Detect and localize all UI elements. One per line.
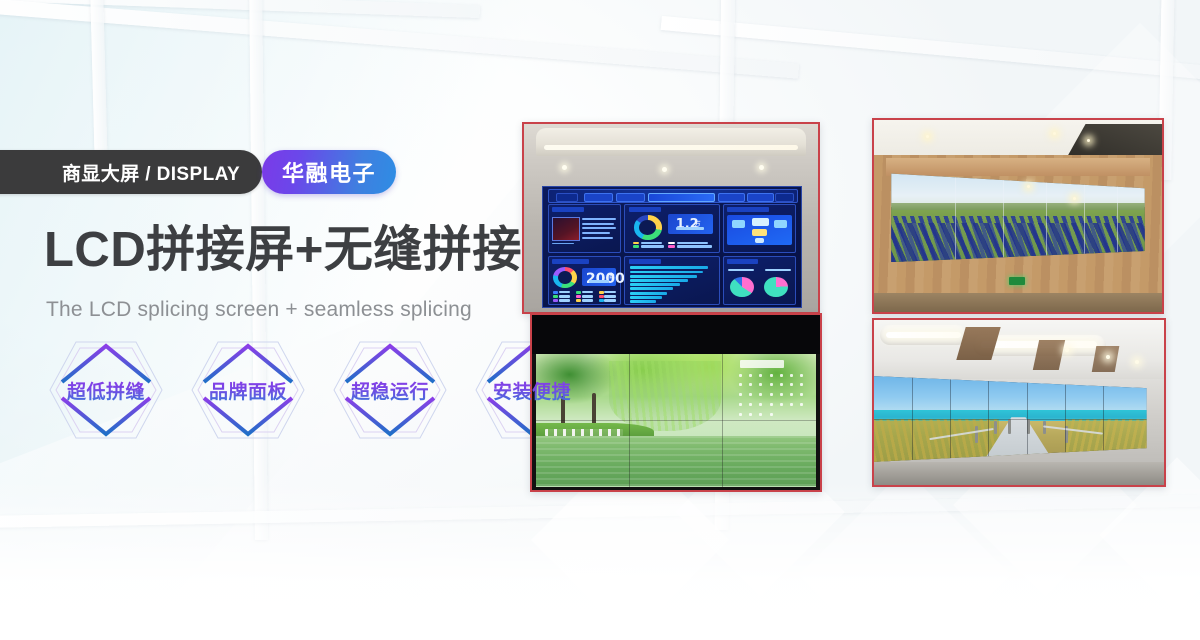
feature-item-2: 品牌面板 xyxy=(188,336,308,444)
product-photo-dashboard-video-wall: 1.2 万 xyxy=(522,122,820,314)
feature-label: 品牌面板 xyxy=(209,377,287,404)
page-title: LCD拼接屏+无缝拼接 xyxy=(44,226,522,275)
copy-column: 商显大屏 / DISPLAY 华融电子 LCD拼接屏+无缝拼接 The LCD … xyxy=(0,0,530,640)
category-pill-label: 商显大屏 / DISPLAY xyxy=(62,159,240,186)
product-photo-willow-lake-wall xyxy=(530,313,822,492)
photo-scene xyxy=(874,120,1162,312)
product-photo-solar-farm-wide-wall xyxy=(872,118,1164,314)
feature-label: 超稳运行 xyxy=(351,377,429,404)
feature-item-3: 超稳运行 xyxy=(330,336,450,444)
banner-root: 商显大屏 / DISPLAY 华融电子 LCD拼接屏+无缝拼接 The LCD … xyxy=(0,0,1200,640)
photo-scene: 1.2 万 xyxy=(524,124,818,312)
feature-label: 超低拼缝 xyxy=(67,377,145,404)
brand-badge-row: 商显大屏 / DISPLAY 华融电子 xyxy=(46,150,396,194)
brand-pill-label: 华融电子 xyxy=(282,156,376,188)
photo-scene xyxy=(532,315,820,490)
product-photo-beach-boardwalk-wall xyxy=(872,318,1166,487)
feature-label: 安装便捷 xyxy=(493,377,571,404)
brand-pill: 华融电子 xyxy=(262,150,396,194)
category-pill: 商显大屏 / DISPLAY xyxy=(0,150,262,194)
page-subtitle: The LCD splicing screen + seamless splic… xyxy=(46,298,472,322)
dashboard-unit-2: 台 xyxy=(609,271,615,280)
photo-scene xyxy=(874,320,1164,485)
dashboard-number-2: 2000 xyxy=(586,271,625,287)
feature-item-1: 超低拼缝 xyxy=(46,336,166,444)
feature-list: 超低拼缝 品牌面板 xyxy=(46,336,592,444)
wallpaper-calendar-widget xyxy=(735,360,808,421)
